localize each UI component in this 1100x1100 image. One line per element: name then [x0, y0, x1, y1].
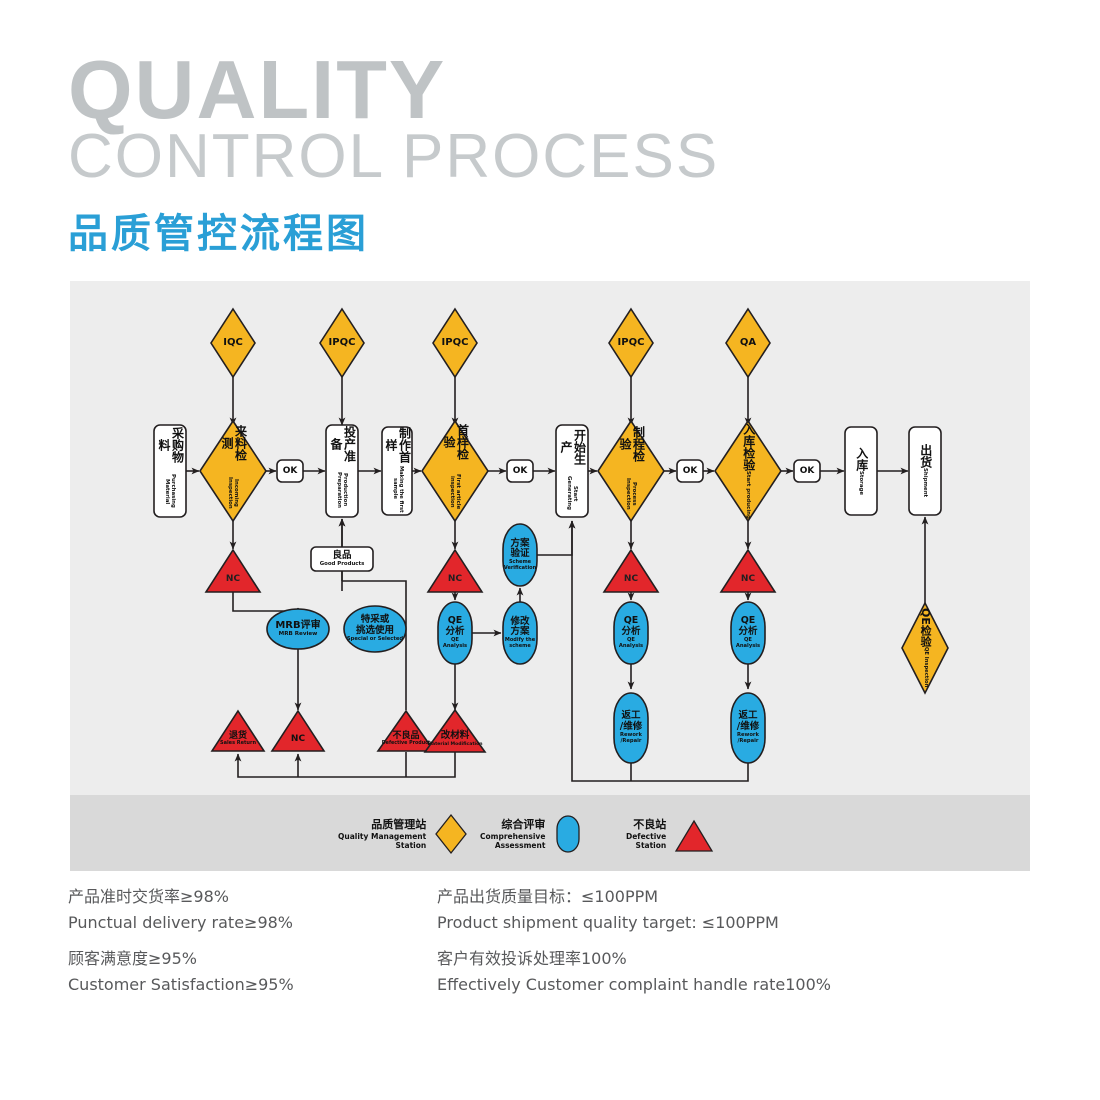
node-qe-inspection[interactable]: [902, 603, 948, 693]
metric-en: Product shipment quality target: ≤100PPM: [437, 910, 779, 936]
gate-diamond-iqc-0[interactable]: [211, 309, 255, 377]
title-control-process: CONTROL PROCESS: [68, 124, 719, 189]
legend-label-en: ComprehensiveAssessment: [480, 832, 545, 851]
node-storage[interactable]: [845, 427, 877, 515]
metric-en: Customer Satisfaction≥95%: [68, 972, 294, 998]
node-rework-2[interactable]: [731, 693, 765, 763]
legend-label-cn: 品质管理站: [338, 818, 426, 832]
gate-diamond-ipqc-1[interactable]: [320, 309, 364, 377]
node-storage-inspection[interactable]: [715, 421, 781, 521]
metric-cn: 产品准时交货率≥98%: [68, 884, 293, 910]
node-rework-1[interactable]: [614, 693, 648, 763]
node-incoming-inspection[interactable]: [200, 421, 266, 521]
metric-en: Effectively Customer complaint handle ra…: [437, 972, 831, 998]
node-nc-4[interactable]: [721, 550, 775, 592]
node-shipment[interactable]: [909, 427, 941, 515]
node-material-modification[interactable]: [425, 710, 485, 752]
node-nc-1[interactable]: [206, 550, 260, 592]
legend-pill-icon: [553, 813, 583, 855]
node-qe-analysis-2[interactable]: [614, 602, 648, 664]
metric-cn: 顾客满意度≥95%: [68, 946, 294, 972]
node-making-first-sample[interactable]: [382, 427, 412, 515]
metric-customer-satisfaction: 顾客满意度≥95% Customer Satisfaction≥95%: [68, 946, 294, 997]
metric-shipment-quality: 产品出货质量目标：≤100PPM Product shipment qualit…: [437, 884, 779, 935]
metric-cn: 产品出货质量目标：≤100PPM: [437, 884, 779, 910]
node-good-products[interactable]: [311, 547, 373, 571]
legend-label-en: DefectiveStation: [626, 832, 666, 851]
legend-item-comprehensive-assessment: 综合评审 ComprehensiveAssessment: [480, 813, 583, 855]
node-nc-branch[interactable]: [272, 711, 324, 751]
title-quality: QUALITY: [68, 52, 719, 128]
node-first-article-inspection[interactable]: [422, 421, 488, 521]
node-mrb-review[interactable]: [267, 609, 329, 649]
metric-cn: 客户有效投诉处理率100%: [437, 946, 831, 972]
node-production-preparation[interactable]: [326, 425, 358, 517]
legend-item-defective-station: 不良站 DefectiveStation: [626, 813, 714, 855]
metric-punctual-delivery: 产品准时交货率≥98% Punctual delivery rate≥98%: [68, 884, 293, 935]
flow-connector: [238, 752, 455, 777]
legend-label-en: Quality ManagementStation: [338, 832, 426, 851]
legend-triangle-icon: [674, 813, 714, 855]
node-start-producing[interactable]: [556, 425, 588, 517]
legend-strip: 品质管理站 Quality ManagementStation 综合评审 Com…: [70, 795, 1030, 871]
node-ok-2[interactable]: [507, 460, 533, 482]
node-qe-analysis-3[interactable]: [731, 602, 765, 664]
node-nc-2[interactable]: [428, 550, 482, 592]
node-special-or-selected[interactable]: [344, 606, 406, 652]
legend-label-cn: 不良站: [626, 818, 666, 832]
node-purchasing-material[interactable]: [154, 425, 186, 517]
flowchart-canvas: [70, 281, 1030, 871]
title-chinese: 品质管控流程图: [68, 201, 719, 259]
metric-en: Punctual delivery rate≥98%: [68, 910, 293, 936]
node-defective-product[interactable]: [378, 711, 434, 751]
node-ok-4[interactable]: [794, 460, 820, 482]
flow-connector: [537, 521, 572, 555]
gate-diamond-ipqc-2[interactable]: [433, 309, 477, 377]
node-ok-3[interactable]: [677, 460, 703, 482]
node-scheme-verification[interactable]: [503, 524, 537, 586]
flowchart-panel: IQCIPQCIPQCIPQCQA采购物料Purchasing Material…: [70, 281, 1030, 871]
node-ok-1[interactable]: [277, 460, 303, 482]
metric-complaint-handle: 客户有效投诉处理率100% Effectively Customer compl…: [437, 946, 831, 997]
legend-diamond-icon: [434, 813, 468, 855]
page-title: QUALITY CONTROL PROCESS 品质管控流程图: [68, 52, 719, 259]
node-sales-return[interactable]: [212, 711, 264, 751]
node-nc-3[interactable]: [604, 550, 658, 592]
node-modify-the-scheme[interactable]: [503, 602, 537, 664]
legend-label-cn: 综合评审: [480, 818, 545, 832]
gate-diamond-ipqc-3[interactable]: [609, 309, 653, 377]
flow-connector: [572, 521, 748, 781]
gate-diamond-qa-4[interactable]: [726, 309, 770, 377]
node-qe-analysis-1[interactable]: [438, 602, 472, 664]
flow-connector: [233, 592, 298, 611]
legend-item-quality-management: 品质管理站 Quality ManagementStation: [338, 813, 468, 855]
node-process-inspection[interactable]: [598, 421, 664, 521]
